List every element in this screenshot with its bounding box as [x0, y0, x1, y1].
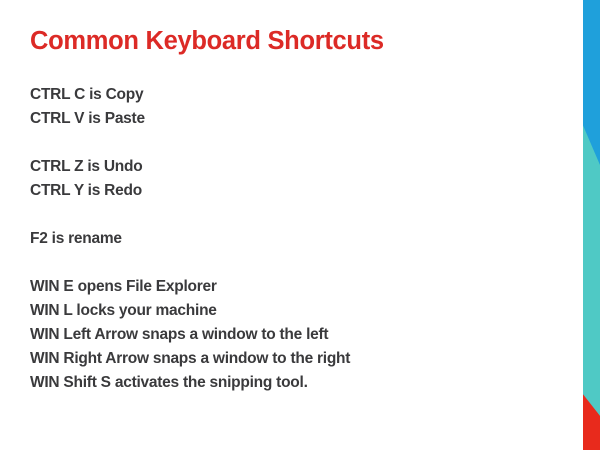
- shortcut-line: CTRL Z is Undo: [30, 155, 550, 179]
- shortcut-line: WIN E opens File Explorer: [30, 275, 550, 299]
- decorative-accent-bar: [583, 0, 600, 450]
- shortcut-line: WIN Right Arrow snaps a window to the ri…: [30, 347, 550, 371]
- slide-canvas: Common Keyboard Shortcuts CTRL C is Copy…: [0, 0, 600, 450]
- shortcut-list: CTRL C is Copy CTRL V is Paste CTRL Z is…: [30, 83, 550, 395]
- shortcut-group: CTRL C is Copy CTRL V is Paste: [30, 83, 550, 131]
- shortcut-group: F2 is rename: [30, 227, 550, 251]
- shortcut-line: CTRL V is Paste: [30, 107, 550, 131]
- shortcut-group: WIN E opens File Explorer WIN L locks yo…: [30, 275, 550, 395]
- shortcut-line: WIN Shift S activates the snipping tool.: [30, 371, 550, 395]
- shortcut-line: CTRL Y is Redo: [30, 179, 550, 203]
- shortcut-line: CTRL C is Copy: [30, 83, 550, 107]
- shortcut-line: F2 is rename: [30, 227, 550, 251]
- shortcut-group: CTRL Z is Undo CTRL Y is Redo: [30, 155, 550, 203]
- shortcut-line: WIN Left Arrow snaps a window to the lef…: [30, 323, 550, 347]
- page-title: Common Keyboard Shortcuts: [30, 26, 384, 57]
- shortcut-line: WIN L locks your machine: [30, 299, 550, 323]
